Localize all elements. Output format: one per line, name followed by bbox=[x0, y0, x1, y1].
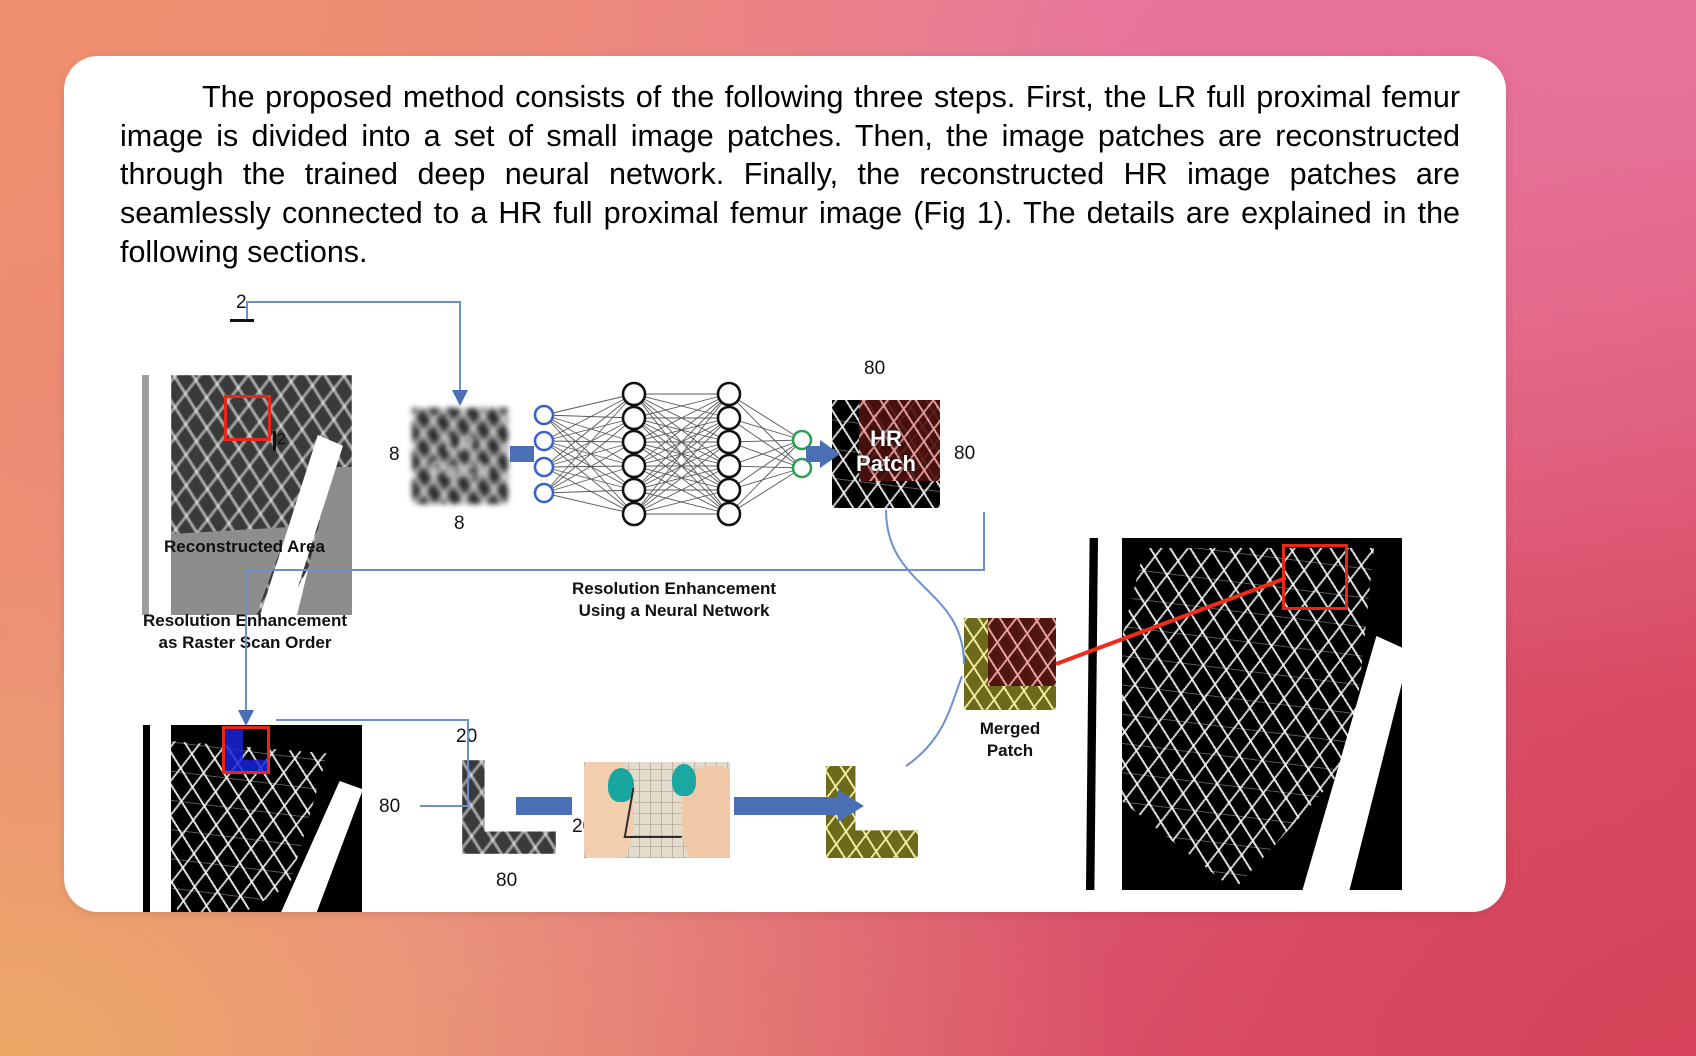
slide-card: The proposed method consists of the foll… bbox=[64, 56, 1506, 912]
hr-patch-height-label: 80 bbox=[954, 443, 975, 465]
lr-femur-shaft-left bbox=[142, 375, 149, 615]
hr-femur-shaft-left bbox=[143, 725, 150, 912]
hr-result-image bbox=[1072, 538, 1402, 890]
lr-patch-label: LR Patch bbox=[412, 432, 508, 483]
lr-src-height-label: 2 bbox=[277, 431, 286, 449]
reconstructed-area-caption: Reconstructed Area bbox=[137, 536, 352, 558]
body-paragraph: The proposed method consists of the foll… bbox=[120, 78, 1460, 272]
nn-node-hidden-1-2 bbox=[623, 407, 645, 429]
hr-patch-image: HR Patch bbox=[832, 400, 940, 508]
nn-caption: Resolution Enhancement Using a Neural Ne… bbox=[496, 578, 852, 623]
overlap-region-shape bbox=[462, 760, 556, 854]
figure-1: 2 2 Reconstructed Area Resolution Enhanc… bbox=[64, 288, 1506, 912]
merged-patch-caption: Merged Patch bbox=[962, 718, 1058, 763]
quilting-stitch-line bbox=[624, 788, 691, 838]
nn-node-hidden-2-3 bbox=[718, 431, 740, 453]
overlap-top-label: 20 bbox=[456, 726, 477, 748]
hr-patch-width-label: 80 bbox=[864, 358, 885, 380]
hr-result-shaft bbox=[1086, 538, 1098, 890]
nn-node-hidden-1-1 bbox=[623, 383, 645, 405]
nn-node-input-4 bbox=[535, 484, 553, 502]
hr-overlap-red-box bbox=[222, 726, 270, 774]
nn-node-hidden-2-1 bbox=[718, 383, 740, 405]
quilting-photo bbox=[584, 762, 730, 858]
nn-node-input-2 bbox=[535, 432, 553, 450]
lr-patch-width-label: 8 bbox=[454, 513, 465, 535]
lr-src-width-label: 2 bbox=[236, 292, 247, 314]
nn-node-input-1 bbox=[535, 406, 553, 424]
merged-patch-image bbox=[964, 618, 1056, 710]
nn-node-hidden-1-3 bbox=[623, 431, 645, 453]
nn-node-output-1 bbox=[793, 431, 811, 449]
overlap-bottom-width-label: 80 bbox=[496, 870, 517, 892]
nn-node-hidden-2-6 bbox=[718, 503, 740, 525]
overlap-height-label: 80 bbox=[379, 796, 400, 818]
lr-src-height-bar bbox=[273, 431, 276, 451]
nn-node-hidden-1-5 bbox=[623, 479, 645, 501]
raster-scan-caption: Resolution Enhancement as Raster Scan Or… bbox=[117, 610, 373, 655]
nn-node-hidden-2-4 bbox=[718, 455, 740, 477]
nn-node-hidden-2-2 bbox=[718, 407, 740, 429]
hr-result-patch-box bbox=[1282, 544, 1348, 610]
nn-node-output-2 bbox=[793, 459, 811, 477]
determined-overlap-shape bbox=[826, 766, 918, 858]
nn-node-hidden-1-6 bbox=[623, 503, 645, 525]
nn-node-hidden-2-5 bbox=[718, 479, 740, 501]
nn-node-input-3 bbox=[535, 458, 553, 476]
lr-src-width-bar bbox=[230, 319, 254, 322]
lr-patch-height-label: 8 bbox=[389, 444, 400, 466]
hr-patch-label: HR Patch bbox=[832, 426, 940, 477]
nn-node-hidden-1-4 bbox=[623, 455, 645, 477]
paragraph-text: The proposed method consists of the foll… bbox=[120, 80, 1460, 269]
lr-patch-image: LR Patch bbox=[412, 408, 508, 504]
merged-patch-maroon bbox=[988, 618, 1056, 686]
lr-source-patch-box bbox=[224, 395, 271, 441]
